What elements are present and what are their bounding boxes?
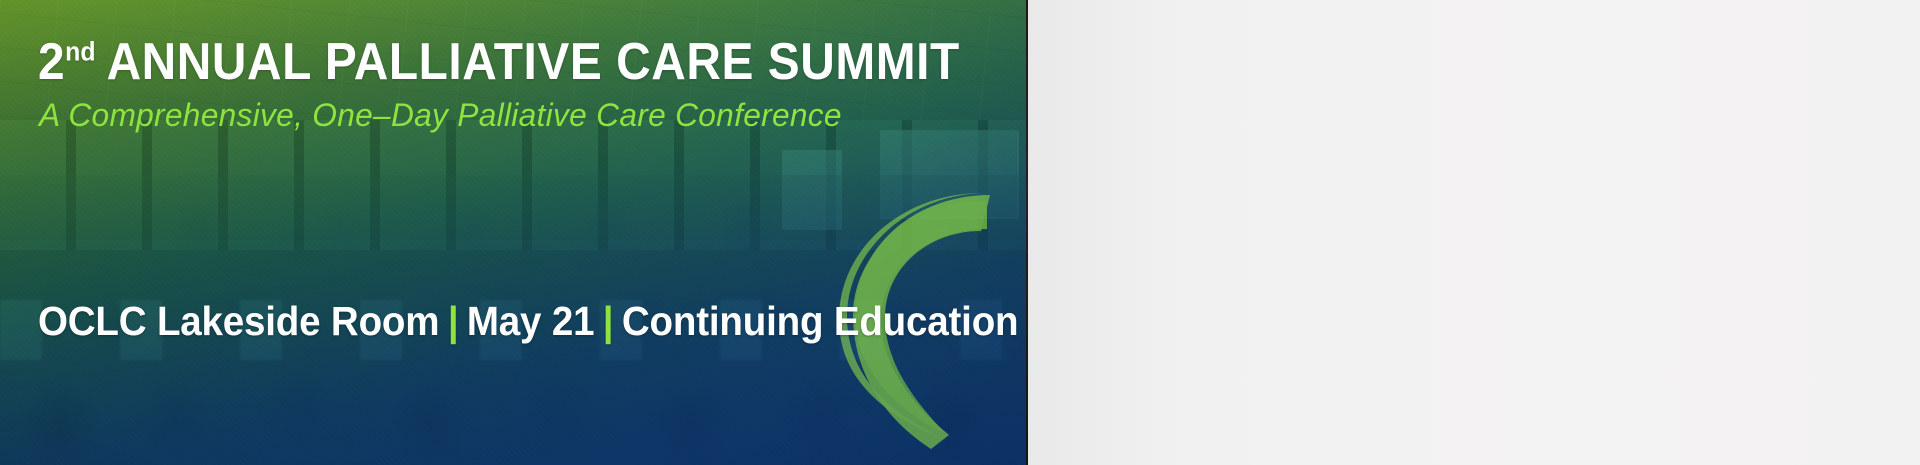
right-blank-panel bbox=[1025, 0, 1920, 465]
event-venue: OCLC Lakeside Room bbox=[38, 298, 439, 344]
title-main: ANNUAL PALLIATIVE CARE SUMMIT bbox=[107, 33, 960, 91]
event-details-line: OCLC Lakeside Room|May 21|Continuing Edu… bbox=[38, 298, 1018, 345]
separator-1: | bbox=[448, 298, 459, 344]
separator-2: | bbox=[603, 298, 614, 344]
page-subtitle: A Comprehensive, One–Day Palliative Care… bbox=[39, 97, 842, 134]
page-root: 2ndANNUAL PALLIATIVE CARE SUMMIT A Compr… bbox=[0, 0, 1920, 465]
title-ordinal-number: 2 bbox=[38, 33, 65, 91]
page-title: 2ndANNUAL PALLIATIVE CARE SUMMIT bbox=[38, 32, 960, 92]
event-hero-banner: 2ndANNUAL PALLIATIVE CARE SUMMIT A Compr… bbox=[0, 0, 1026, 465]
event-date: May 21 bbox=[467, 298, 594, 344]
title-ordinal-suffix: nd bbox=[65, 37, 95, 67]
event-credit: Continuing Education bbox=[622, 298, 1019, 344]
